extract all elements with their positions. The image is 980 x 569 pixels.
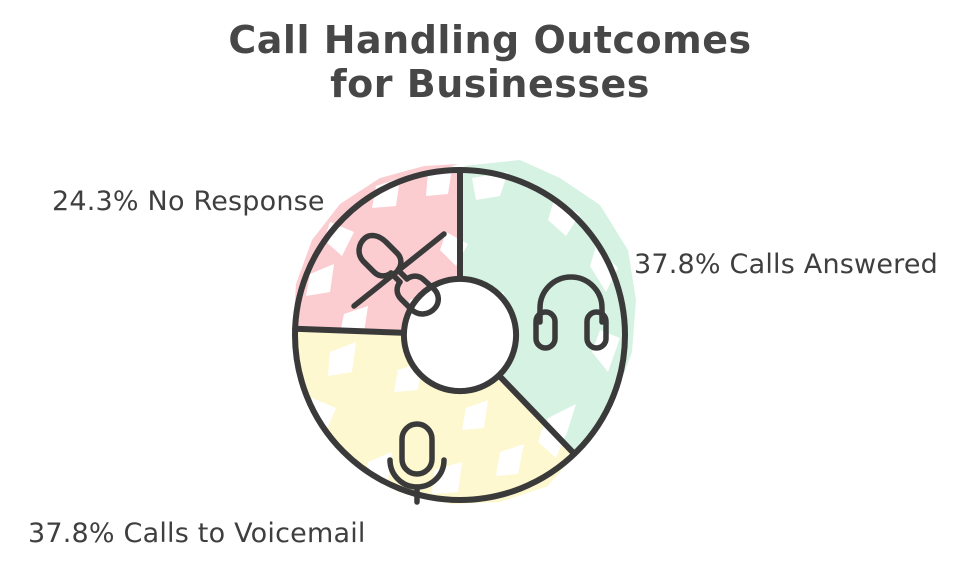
donut-chart-svg — [0, 0, 980, 569]
slice-label-no-response: 24.3% No Response — [52, 186, 325, 217]
donut-chart: 24.3% No Response 37.8% Calls Answered 3… — [0, 0, 980, 569]
divider-voicemail-no-response — [295, 329, 406, 333]
slice-label-calls-answered: 37.8% Calls Answered — [634, 249, 938, 280]
donut-hole — [404, 279, 516, 391]
slice-label-calls-to-voicemail: 37.8% Calls to Voicemail — [28, 518, 366, 549]
